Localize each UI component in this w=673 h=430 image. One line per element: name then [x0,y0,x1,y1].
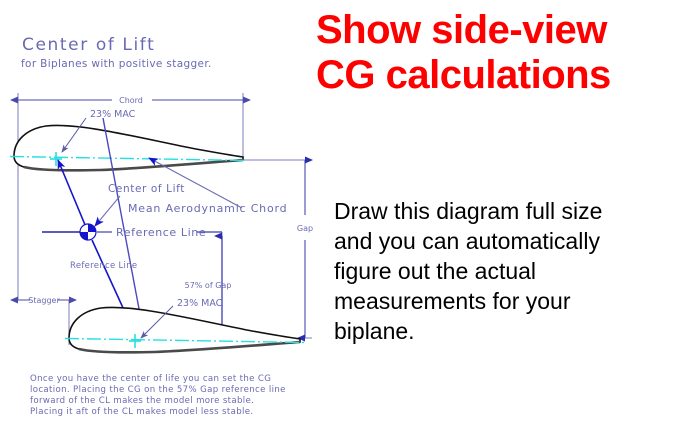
body-line-4: measurements for your [334,286,668,316]
percent-of-gap-label: 57% of Gap [185,281,232,290]
body-line-3: figure out the actual [334,256,668,286]
diagram-subtitle: for Biplanes with positive stagger. [21,58,212,70]
upper-airfoil [10,125,247,170]
diagram-caption: Once you have the center of life you can… [30,374,286,417]
stagger-label: Stagger [28,296,60,305]
center-of-lift-label: Center of Lift [108,183,185,195]
reference-line-main-label: Reference Line [116,226,206,239]
cg-symbol [80,224,96,240]
caption-line-2: location. Placing the CG on the 57% Gap … [30,385,286,395]
body-text: Draw this diagram full size and you can … [334,196,668,346]
mac-lower-label: 23% MAC [177,298,223,309]
headline-line-1: Show side-view [316,8,607,52]
caption-line-3: forward of the CL makes the model more s… [30,396,254,406]
gap-dimension: Gap [297,160,313,338]
headline: Show side-view CG calculations [316,8,668,98]
mac-upper-label: 23% MAC [90,109,136,120]
headline-line-2: CG calculations [316,53,668,98]
body-line-1: Draw this diagram full size [334,196,668,226]
percent-of-gap-dimension: 57% of Gap [185,236,232,330]
caption-line-1: Once you have the center of life you can… [30,374,271,384]
mean-aero-chord-label: Mean Aerodynamic Chord [128,202,287,215]
reference-line-secondary-label: Reference Line [70,261,137,271]
slide-canvas: Center of Lift for Biplanes with positiv… [0,0,673,430]
center-of-lift-diagram: Center of Lift for Biplanes with positiv… [0,0,330,430]
diagram-title: Center of Lift [22,35,155,55]
chord-dimension: Chord [18,96,243,105]
lower-airfoil [65,307,304,352]
body-line-5: biplane. [334,316,668,346]
diagram-svg: Center of Lift for Biplanes with positiv… [0,0,330,430]
caption-line-4: Placing it aft of the CL makes model les… [30,407,253,417]
gap-label: Gap [297,224,313,233]
chord-label: Chord [119,96,143,105]
body-line-2: and you can automatically [334,226,668,256]
stagger-dimension: Stagger [18,296,69,305]
reference-line-row: Reference Line [42,224,222,240]
